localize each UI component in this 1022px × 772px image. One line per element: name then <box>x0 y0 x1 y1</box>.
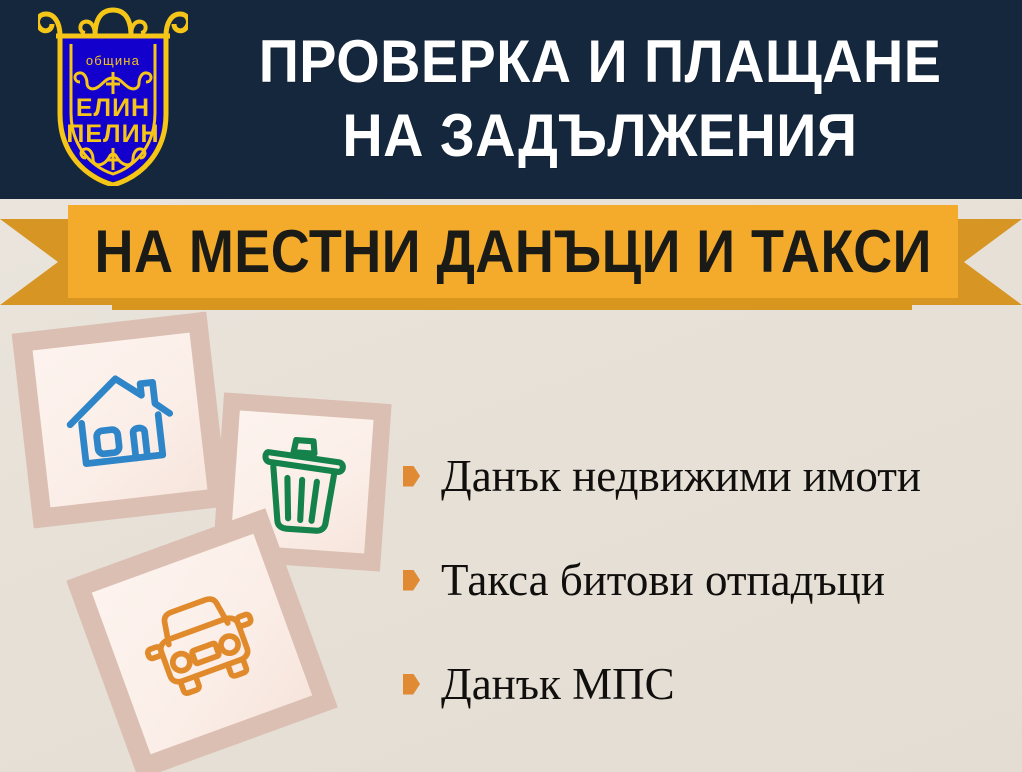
stamp-scallop <box>5 353 25 373</box>
stamp-scallop <box>70 316 90 336</box>
tax-types-list: Данък недвижими имоти Такса битови отпад… <box>403 424 1018 736</box>
stamp-scallop <box>58 579 81 602</box>
stamp-scallop <box>316 699 339 722</box>
stamp-scallop <box>84 558 107 581</box>
list-item[interactable]: Такса битови отпадъци <box>403 528 1018 632</box>
stamp-scallop <box>301 626 324 649</box>
stamp-scallop <box>65 565 88 588</box>
stamp-scallop <box>373 531 392 550</box>
stamp-scallop <box>170 502 190 522</box>
stamp-scallop <box>94 679 117 702</box>
stamp-scallop <box>184 522 207 545</box>
stamp-scallop <box>339 560 358 579</box>
stamp-scallop <box>137 765 160 772</box>
stamp-scallop <box>102 699 125 722</box>
stamp-scallop <box>309 389 328 408</box>
stamp-scallop <box>277 714 300 737</box>
stamp-scallop <box>177 750 200 772</box>
stamp-scallop <box>360 561 379 580</box>
ribbon-text: НА МЕСТНИ ДАНЪЦИ И ТАКСИ <box>94 221 931 283</box>
stamp-scallop <box>50 318 70 338</box>
arrow-bullet-icon <box>403 466 420 487</box>
stamp-scallop <box>116 738 139 761</box>
stamp-scallop <box>18 470 38 490</box>
stamp-scallop <box>16 450 36 470</box>
stamp-scallop <box>11 323 31 343</box>
stamp-scallop <box>109 719 132 742</box>
logo-small-text: община <box>86 53 140 68</box>
stamp-scallop <box>375 489 394 508</box>
list-item-label: Данък МПС <box>441 659 675 709</box>
stamp-scallop <box>164 529 187 552</box>
stamp-scallop <box>23 509 43 529</box>
stamp-scallop <box>72 513 92 533</box>
stamp-scallop <box>73 619 96 642</box>
stamp-house <box>12 312 229 529</box>
coat-of-arms-icon: община ЕЛИН ПЕЛИН <box>38 6 188 186</box>
stamp-scallop <box>374 510 393 529</box>
stamp-scallop <box>279 566 302 589</box>
stamp-scallop <box>31 320 51 340</box>
stamp-scallop <box>297 557 316 576</box>
stamp-scallop <box>202 350 222 370</box>
poster-title: ПРОВЕРКА И ПЛАЩАНЕ НА ЗАДЪЛЖЕНИЯ <box>190 14 1010 184</box>
stamp-scallop <box>144 536 167 559</box>
list-item[interactable]: Данък недвижими имоти <box>403 424 1018 528</box>
stamp-scallop <box>80 639 103 662</box>
stamp-scallop <box>150 504 170 524</box>
stamp-scallop <box>14 431 34 451</box>
stamp-scallop <box>204 370 224 390</box>
stamp-scallop <box>53 515 73 535</box>
stamp-scallop <box>197 743 220 766</box>
stamp-scallop <box>12 411 32 431</box>
car-front-icon <box>92 534 312 754</box>
list-item-label: Такса битови отпадъци <box>441 555 885 605</box>
stamp-scallop <box>330 391 349 410</box>
stamp-scallop <box>225 383 244 402</box>
stamp-scallop <box>286 586 309 609</box>
stamp-scallop <box>111 509 131 529</box>
stamp-scallop <box>123 758 146 772</box>
title-line-1: ПРОВЕРКА И ПЛАЩАНЕ <box>259 25 942 99</box>
stamp-scallop <box>257 721 280 744</box>
stamp-scallop <box>371 552 390 571</box>
stamp-scallop <box>351 392 370 411</box>
subtitle-ribbon: НА МЕСТНИ ДАНЪЦИ И ТАКСИ <box>0 197 1022 315</box>
municipality-logo: община ЕЛИН ПЕЛИН <box>38 6 188 186</box>
stamp-scallop <box>124 544 147 567</box>
stamp-scallop <box>377 468 396 487</box>
stamp-scallop <box>217 736 240 759</box>
title-line-2: НА ЗАДЪЛЖЕНИЯ <box>342 99 857 173</box>
stamp-scallop <box>294 606 317 629</box>
list-item-label: Данък недвижими имоти <box>441 451 921 501</box>
stamp-scallop <box>87 659 110 682</box>
stamp-scallop <box>92 511 112 531</box>
stamp-scallop <box>20 489 40 509</box>
stamp-scallop <box>89 314 109 334</box>
stamp-scallop <box>65 599 88 622</box>
logo-main-text-line1: ЕЛИН <box>76 94 150 122</box>
stamp-scallop <box>267 386 286 405</box>
poster-canvas: община ЕЛИН ПЕЛИН ПРОВЕРКА И ПЛАЩАНЕ <box>0 0 1022 772</box>
stamp-scallop <box>296 707 319 730</box>
arrow-bullet-icon <box>403 674 420 695</box>
house-icon <box>33 333 208 508</box>
stamp-scallop <box>33 517 53 537</box>
stamp-car-inner <box>92 534 312 754</box>
stamp-scallop <box>237 728 260 751</box>
logo-main-text-line2: ПЕЛИН <box>66 120 159 148</box>
arrow-bullet-icon <box>403 570 420 591</box>
ribbon-banner: НА МЕСТНИ ДАНЪЦИ И ТАКСИ <box>68 205 958 298</box>
stamp-scallop <box>372 394 391 413</box>
stamp-scallop <box>189 500 209 520</box>
stamp-scallop <box>3 333 23 353</box>
stamp-scallop <box>7 372 27 392</box>
stamp-scallop <box>157 757 180 772</box>
stamp-scallop <box>308 646 331 669</box>
stamp-house-inner <box>33 333 208 508</box>
stamp-scallop <box>323 686 346 709</box>
stamp-scallop <box>9 392 29 412</box>
stamp-scallop <box>381 405 400 424</box>
stamp-scallop <box>378 447 397 466</box>
stamp-scallop <box>318 558 337 577</box>
list-item[interactable]: Данък МПС <box>403 632 1018 736</box>
ribbon-shadow <box>112 296 912 310</box>
stamp-scallop <box>288 388 307 407</box>
stamp-scallop <box>200 331 220 351</box>
stamp-scallop <box>380 426 399 445</box>
stamp-scallop <box>131 506 151 526</box>
stamp-scallop <box>246 385 265 404</box>
stamp-scallop <box>104 551 127 574</box>
stamp-scallop <box>315 666 338 689</box>
